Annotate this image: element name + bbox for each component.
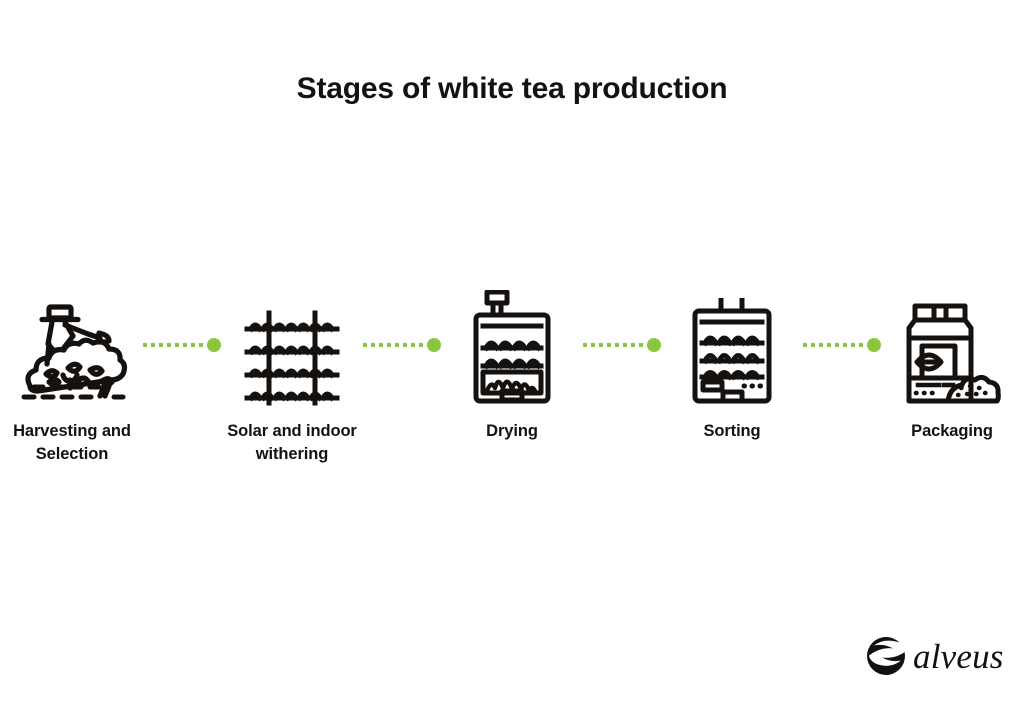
stage-label: Drying (432, 420, 592, 443)
brand-wordmark: alveus (913, 639, 1004, 674)
brand-logo: alveus (866, 636, 1004, 676)
process-flow: Harvesting and Selection (0, 288, 1024, 478)
stage-solar-and-indoor-withering[interactable]: Solar and indoor withering (221, 288, 363, 466)
connector-dot (647, 338, 661, 352)
stage-label: Harvesting and Selection (0, 420, 152, 466)
drying-oven-icon (471, 288, 553, 406)
stage-packaging[interactable]: Packaging (881, 288, 1023, 443)
stage-label: Solar and indoor withering (212, 420, 372, 466)
stage-harvesting-and-selection[interactable]: Harvesting and Selection (1, 288, 143, 466)
stage-label: Packaging (872, 420, 1024, 443)
stage-drying[interactable]: Drying (441, 288, 583, 443)
connector-dashes (143, 343, 204, 347)
connector-dashes (583, 343, 644, 347)
tea-package-icon (903, 288, 1001, 406)
connector-2 (363, 288, 441, 406)
connector-dashes (363, 343, 424, 347)
stage-label: Sorting (652, 420, 812, 443)
connector-dot (867, 338, 881, 352)
connector-dashes (803, 343, 864, 347)
alveus-leaf-circle-icon (866, 636, 906, 676)
sorting-machine-icon (690, 288, 774, 406)
tea-harvesting-icon (16, 288, 128, 406)
stage-sorting[interactable]: Sorting (661, 288, 803, 443)
withering-rack-icon (244, 288, 340, 406)
page-title: Stages of white tea production (0, 72, 1024, 106)
connector-dot (207, 338, 221, 352)
connector-3 (583, 288, 661, 406)
connector-1 (143, 288, 221, 406)
connector-4 (803, 288, 881, 406)
connector-dot (427, 338, 441, 352)
